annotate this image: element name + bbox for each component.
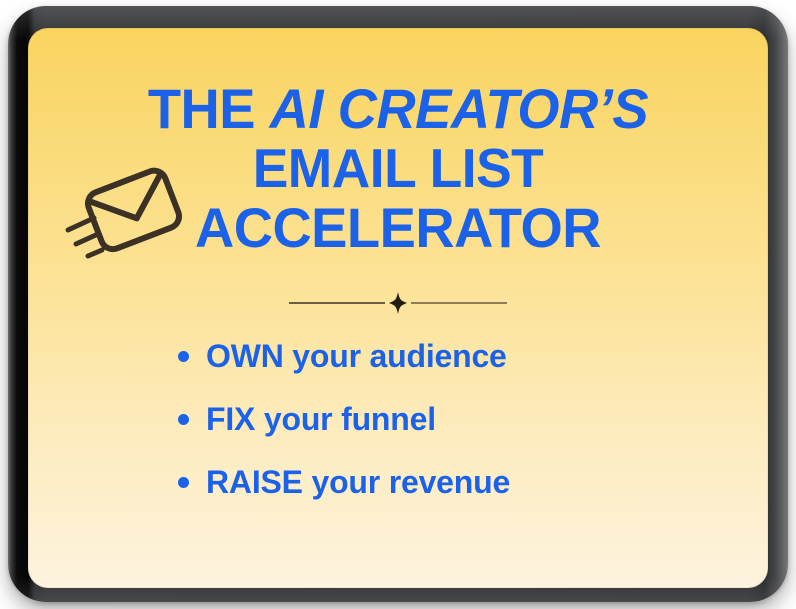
- list-item-label: OWN your audience: [206, 338, 507, 375]
- headline-block: THE AI CREATOR’S EMAIL LIST ACCELERATOR: [28, 82, 768, 256]
- bullet-dot-icon: [178, 477, 189, 488]
- benefit-list: OWN your audience FIX your funnel RAISE …: [28, 338, 768, 501]
- tablet-device-frame: THE AI CREATOR’S EMAIL LIST ACCELERATOR …: [8, 6, 788, 602]
- bullet-dot-icon: [178, 414, 189, 425]
- bullet-dot-icon: [178, 351, 189, 362]
- list-item-label: FIX your funnel: [206, 401, 436, 438]
- headline-line-1-prefix: THE: [148, 77, 270, 140]
- screenshot-stage: THE AI CREATOR’S EMAIL LIST ACCELERATOR …: [0, 0, 796, 609]
- headline-line-1: THE AI CREATOR’S: [39, 82, 757, 137]
- section-divider: [289, 290, 507, 316]
- headline-line-2: EMAIL LIST: [39, 142, 757, 196]
- tablet-screen: THE AI CREATOR’S EMAIL LIST ACCELERATOR …: [28, 28, 768, 588]
- list-item: RAISE your revenue: [178, 464, 768, 501]
- list-item-label: RAISE your revenue: [206, 464, 510, 501]
- list-item: OWN your audience: [178, 338, 768, 375]
- four-point-sparkle-icon: [389, 292, 407, 314]
- headline-line-3: ACCELERATOR: [39, 201, 757, 256]
- divider-graphic: [289, 292, 507, 314]
- headline-line-1-emphasis: AI CREATOR’S: [270, 77, 648, 140]
- list-item: FIX your funnel: [178, 401, 768, 438]
